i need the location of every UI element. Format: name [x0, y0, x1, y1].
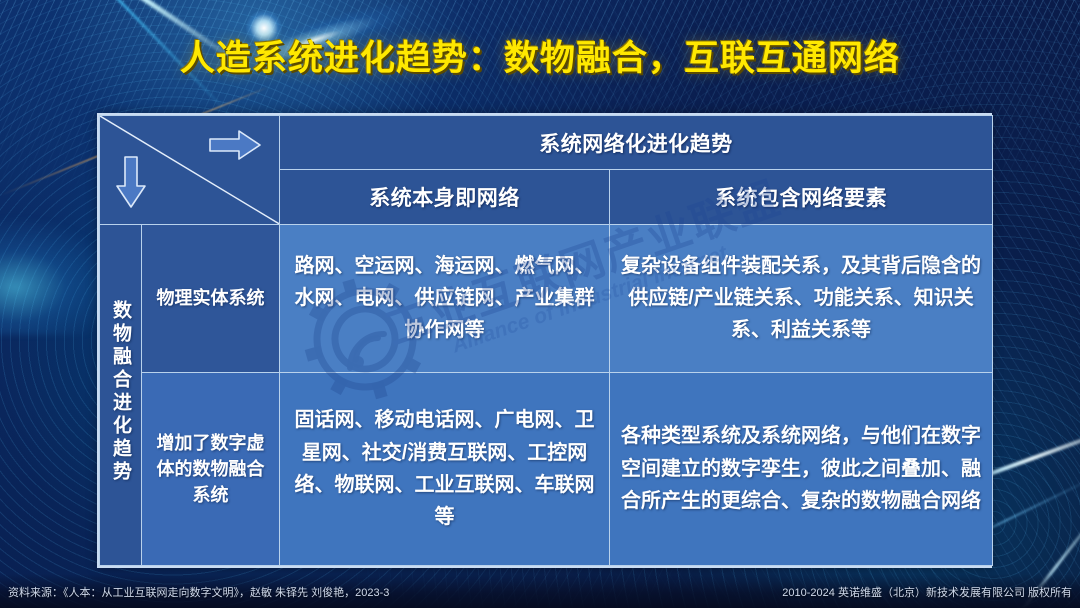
cell-r2c1: 固话网、移动电话网、广电网、卫星网、社交/消费互联网、工控网络、物联网、工业互联… [280, 372, 610, 565]
column-header-1: 系统本身即网络 [280, 170, 610, 224]
arrow-down-icon [116, 156, 146, 208]
column-group-header: 系统网络化进化趋势 [280, 116, 993, 170]
arrow-right-icon [209, 130, 261, 160]
cell-r2c2: 各种类型系统及系统网络，与他们在数字空间建立的数字孪生，彼此之间叠加、融合所产生… [610, 372, 993, 565]
table-row: 增加了数字虚体的数物融合系统 固话网、移动电话网、广电网、卫星网、社交/消费互联… [100, 372, 993, 565]
cell-r1c2: 复杂设备组件装配关系，及其背后隐含的供应链/产业链关系、功能关系、知识关系、利益… [610, 224, 993, 372]
copyright-note: 2010-2024 英诺维盛（北京）新技术发展有限公司 版权所有 [782, 584, 1072, 600]
row-group-label: 数物融合进化趋势 [111, 300, 130, 484]
cell-r1c1: 路网、空运网、海运网、燃气网、水网、电网、供应链网、产业集群协作网等 [280, 224, 610, 372]
corner-cell [100, 116, 280, 225]
slide-title: 人造系统进化趋势：数物融合，互联互通网络 [0, 30, 1080, 81]
column-header-2: 系统包含网络要素 [610, 170, 993, 224]
matrix-table: 系统网络化进化趋势 系统本身即网络 系统包含网络要素 数物融合进化趋势 物理实体… [97, 113, 992, 568]
row-label-2: 增加了数字虚体的数物融合系统 [142, 372, 280, 565]
table-row-header-top: 系统网络化进化趋势 [100, 116, 993, 170]
source-note: 资料来源：《人本：从工业互联网走向数字文明》，赵敏 朱铎先 刘俊艳，2023-3 [8, 584, 389, 600]
row-label-1: 物理实体系统 [142, 224, 280, 372]
row-group-label-cell: 数物融合进化趋势 [100, 224, 142, 565]
table-row: 数物融合进化趋势 物理实体系统 路网、空运网、海运网、燃气网、水网、电网、供应链… [100, 224, 993, 372]
slide-canvas: 人造系统进化趋势：数物融合，互联互通网络 [0, 0, 1080, 608]
